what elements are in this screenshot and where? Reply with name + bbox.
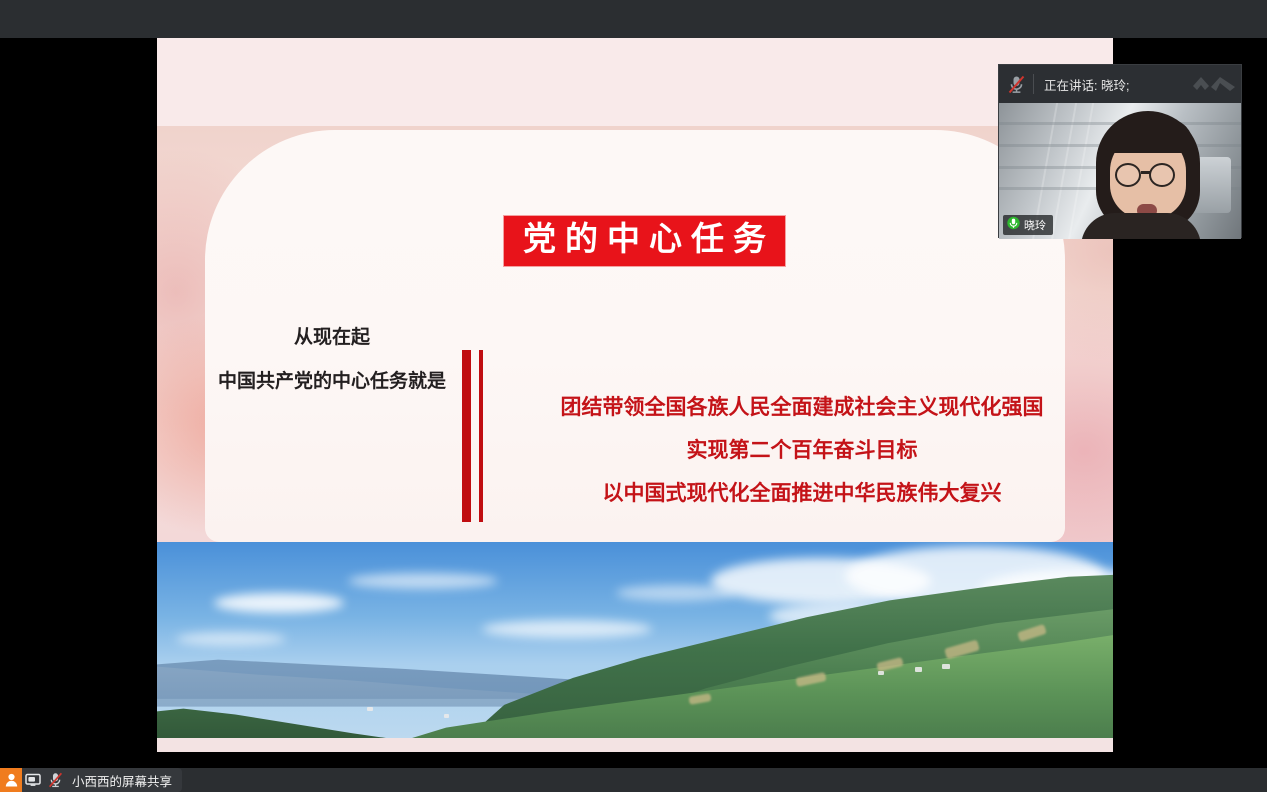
page-title: 党的中心任务: [514, 220, 775, 259]
lead-line: 从现在起: [187, 316, 477, 360]
red-divider-bars: [462, 350, 490, 522]
mountain-landscape-photo: [157, 542, 1113, 738]
screen-share-icon[interactable]: [22, 768, 44, 792]
cloud: [482, 620, 652, 638]
village-house: [444, 714, 449, 718]
participant-video-feed[interactable]: 晓玲: [999, 103, 1241, 239]
village-house: [878, 671, 884, 675]
person-bangs: [1105, 119, 1193, 153]
statement-line: 实现第二个百年奋斗目标: [502, 429, 1102, 472]
village-house: [915, 667, 922, 672]
lead-text-block: 从现在起 中国共产党的中心任务就是: [187, 316, 477, 404]
speaker-video-panel[interactable]: 正在讲话: 晓玲;: [998, 64, 1242, 238]
slide-title-banner: 党的中心任务: [503, 215, 786, 267]
microphone-active-icon: [1007, 216, 1020, 235]
participant-name-badge: 晓玲: [1003, 215, 1053, 235]
header-divider: [1033, 74, 1034, 94]
slide-content-row: 从现在起 中国共产党的中心任务就是 团结带领全国各族人民全面建成社会主义现代化强…: [157, 288, 1113, 488]
taskbar-label: 小西西的屏幕共享: [72, 771, 172, 790]
presentation-slide: 党的中心任务 从现在起 中国共产党的中心任务就是 团结带领全国各族人民全面建成社…: [157, 38, 1113, 752]
top-bar: [0, 0, 1267, 38]
village-house: [367, 707, 373, 711]
cloud: [176, 632, 286, 646]
microphone-muted-icon[interactable]: [999, 65, 1033, 103]
app-logo-icon: [1187, 65, 1241, 103]
video-panel-header: 正在讲话: 晓玲;: [999, 65, 1241, 103]
cloud: [348, 573, 498, 589]
speaking-status-label: 正在讲话: 晓玲;: [1044, 75, 1187, 94]
divider-bar-thin: [479, 350, 483, 522]
screen-share-window: 党的中心任务 从现在起 中国共产党的中心任务就是 团结带领全国各族人民全面建成社…: [0, 0, 1267, 792]
glasses-lens-left: [1115, 163, 1141, 187]
glasses-lens-right: [1149, 163, 1175, 187]
statement-line: 以中国式现代化全面推进中华民族伟大复兴: [502, 472, 1102, 515]
slide-top-band: [157, 38, 1113, 130]
glasses-bridge: [1141, 171, 1151, 174]
taskbar: 小西西的屏幕共享: [0, 768, 1267, 792]
lead-line: 中国共产党的中心任务就是: [187, 360, 477, 404]
slide-footer-strip: [157, 738, 1113, 752]
cloud: [214, 593, 344, 613]
participant-name: 晓玲: [1024, 217, 1046, 233]
person-icon: [0, 768, 22, 792]
statement-text-block: 团结带领全国各族人民全面建成社会主义现代化强国 实现第二个百年奋斗目标 以中国式…: [502, 386, 1102, 515]
statement-line: 团结带领全国各族人民全面建成社会主义现代化强国: [502, 386, 1102, 429]
screen-share-taskbar-chip[interactable]: 小西西的屏幕共享: [0, 768, 182, 792]
person-shoulder: [1081, 213, 1201, 239]
microphone-muted-icon[interactable]: [44, 768, 66, 792]
village-house: [942, 664, 950, 669]
divider-bar-thick: [462, 350, 471, 522]
